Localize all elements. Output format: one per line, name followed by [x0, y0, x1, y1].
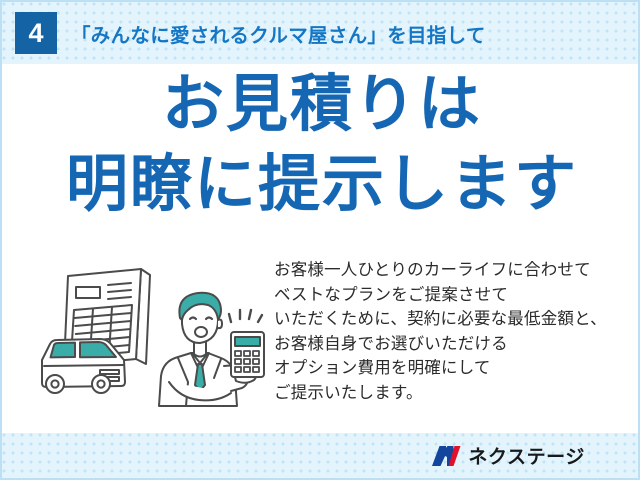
body-line: お客様一人ひとりのカーライフに合わせて: [274, 258, 634, 283]
footer-band: ネクステージ: [2, 433, 640, 478]
calculator-icon: [231, 332, 264, 377]
headline-line-2: 明瞭に提示します: [2, 154, 640, 216]
body-line: ご提示いたします。: [274, 381, 634, 406]
headline-block: お見積りは 明瞭に提示します: [2, 74, 640, 216]
brand-logo: ネクステージ: [431, 442, 585, 469]
sparkle-icon: [229, 310, 262, 322]
brand-logo-text: ネクステージ: [468, 442, 585, 469]
header-band: 4 「みんなに愛されるクルマ屋さん」を目指して: [2, 2, 640, 64]
body-paragraph: お客様一人ひとりのカーライフに合わせて ベストなプランをご提案させて いただくた…: [274, 258, 634, 406]
body-line: いただくために、契約に必要な最低金額と、: [274, 307, 634, 332]
nextstage-n-logo-icon: [431, 445, 461, 467]
van-icon: [42, 339, 125, 393]
header-step-badge: 4: [15, 12, 57, 54]
body-line: お客様自身でお選びいただける: [274, 332, 634, 357]
advertisement-page: 4 「みんなに愛されるクルマ屋さん」を目指して お見積りは 明瞭に提示します お…: [0, 0, 640, 480]
header-title: 「みんなに愛されるクルマ屋さん」を目指して: [71, 19, 486, 48]
body-line: ベストなプランをご提案させて: [274, 283, 634, 308]
body-line: オプション費用を明確にして: [274, 356, 634, 381]
illustration-group: [28, 260, 276, 418]
headline-line-1: お見積りは: [2, 74, 640, 136]
